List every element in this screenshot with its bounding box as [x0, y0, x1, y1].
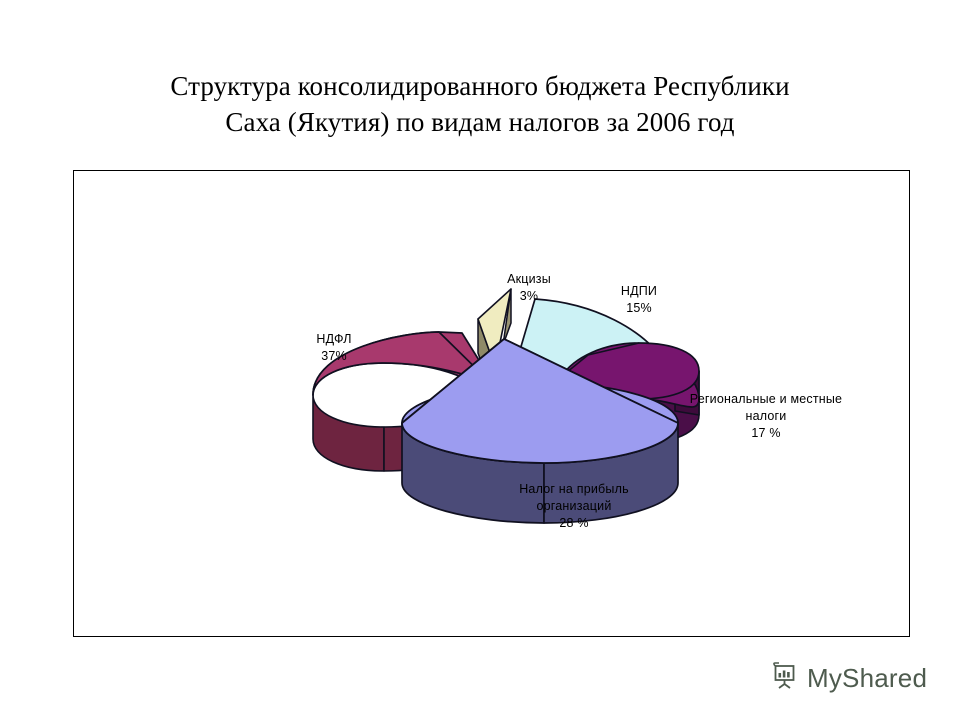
pie-chart: НДФЛ 37% Акцизы 3% НДПИ 15% Региональные…: [74, 171, 911, 638]
pie-label-ndpi-name: НДПИ: [584, 283, 694, 300]
pie-label-profit-value: 28 %: [479, 515, 669, 532]
pie-label-regional-name-line-2: налоги: [666, 408, 866, 425]
chart-frame: НДФЛ 37% Акцизы 3% НДПИ 15% Региональные…: [73, 170, 910, 637]
page-title-line-2: Саха (Якутия) по видам налогов за 2006 г…: [110, 104, 850, 140]
pie-label-ndfl-value: 37%: [279, 348, 389, 365]
page-title: Структура консолидированного бюджета Рес…: [110, 68, 850, 140]
pie-label-profit-name-line-1: Налог на прибыль: [479, 481, 669, 498]
pie-label-ndfl-name: НДФЛ: [279, 331, 389, 348]
pie-label-akcizy-name: Акцизы: [474, 271, 584, 288]
pie-label-regional: Региональные и местные налоги 17 %: [666, 391, 866, 442]
pie-label-regional-name-line-1: Региональные и местные: [666, 391, 866, 408]
pie-label-profit: Налог на прибыль организаций 28 %: [479, 481, 669, 532]
pie-label-regional-value: 17 %: [666, 425, 866, 442]
watermark: MyShared: [770, 661, 927, 696]
pie-label-akcizy: Акцизы 3%: [474, 271, 584, 305]
presentation-chart-icon: [770, 661, 800, 696]
pie-label-ndfl: НДФЛ 37%: [279, 331, 389, 365]
page-title-line-1: Структура консолидированного бюджета Рес…: [110, 68, 850, 104]
pie-label-profit-name-line-2: организаций: [479, 498, 669, 515]
pie-label-akcizy-value: 3%: [474, 288, 584, 305]
pie-label-ndpi: НДПИ 15%: [584, 283, 694, 317]
pie-label-ndpi-value: 15%: [584, 300, 694, 317]
watermark-text: MyShared: [807, 663, 927, 694]
